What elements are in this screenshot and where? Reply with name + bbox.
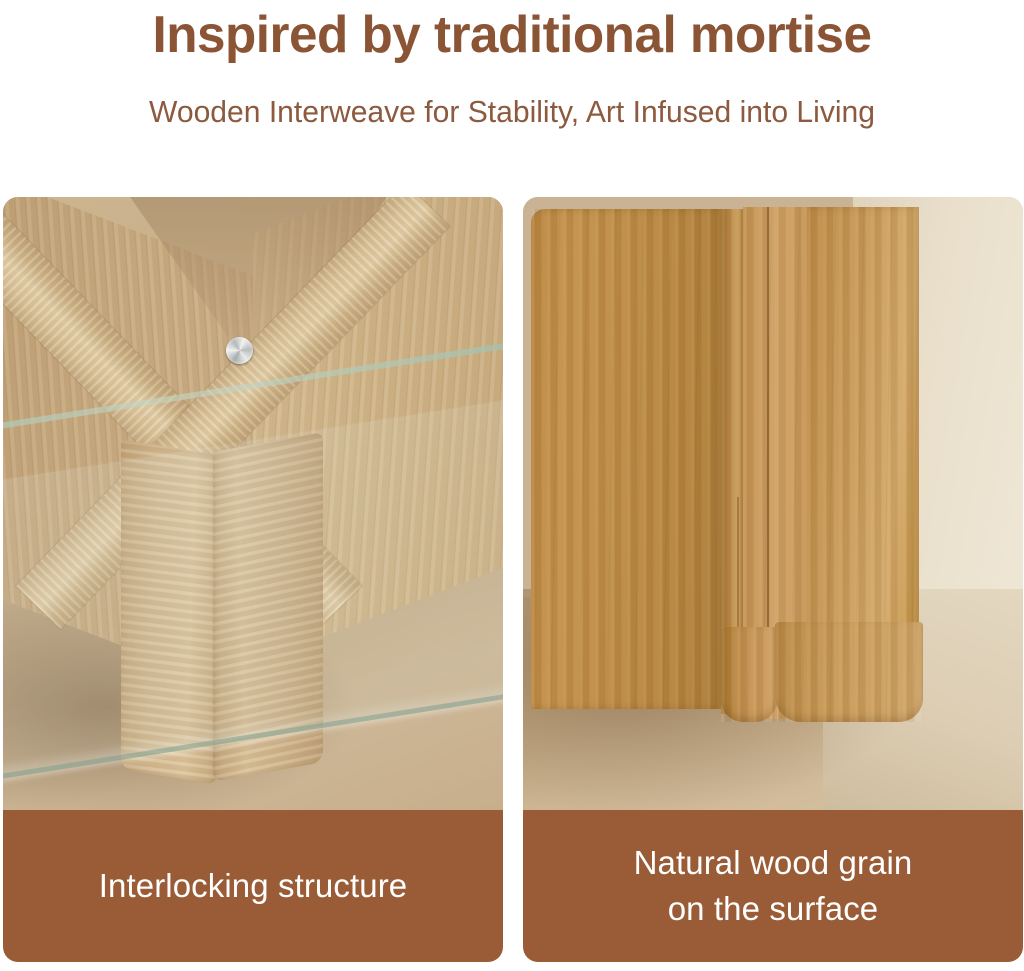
photo-interlocking-structure [3, 197, 503, 810]
wood-grain-texture [531, 209, 723, 709]
page-subtitle: Wooden Interweave for Stability, Art Inf… [15, 92, 1008, 132]
leg-foot-right [775, 622, 923, 722]
feature-card-natural-wood-grain[interactable]: Natural wood grain on the surface [523, 197, 1023, 962]
wood-grain-texture [775, 622, 923, 722]
caption-label-interlocking-structure: Interlocking structure [83, 864, 424, 908]
caption-bar-left: Interlocking structure [3, 810, 503, 962]
caption-bar-right: Natural wood grain on the surface [523, 810, 1023, 962]
wood-grain-texture [721, 627, 777, 722]
metal-screw-icon [226, 337, 253, 364]
page-title: Inspired by traditional mortise [8, 4, 1017, 66]
leg-foot-left [721, 627, 777, 722]
feature-card-interlocking-structure[interactable]: Interlocking structure [3, 197, 503, 962]
caption-label-natural-wood-grain: Natural wood grain on the surface [618, 840, 929, 932]
header-block: Inspired by traditional mortise Wooden I… [0, 0, 1024, 190]
wood-board-left [531, 209, 723, 709]
photo-natural-wood-grain [523, 197, 1023, 810]
